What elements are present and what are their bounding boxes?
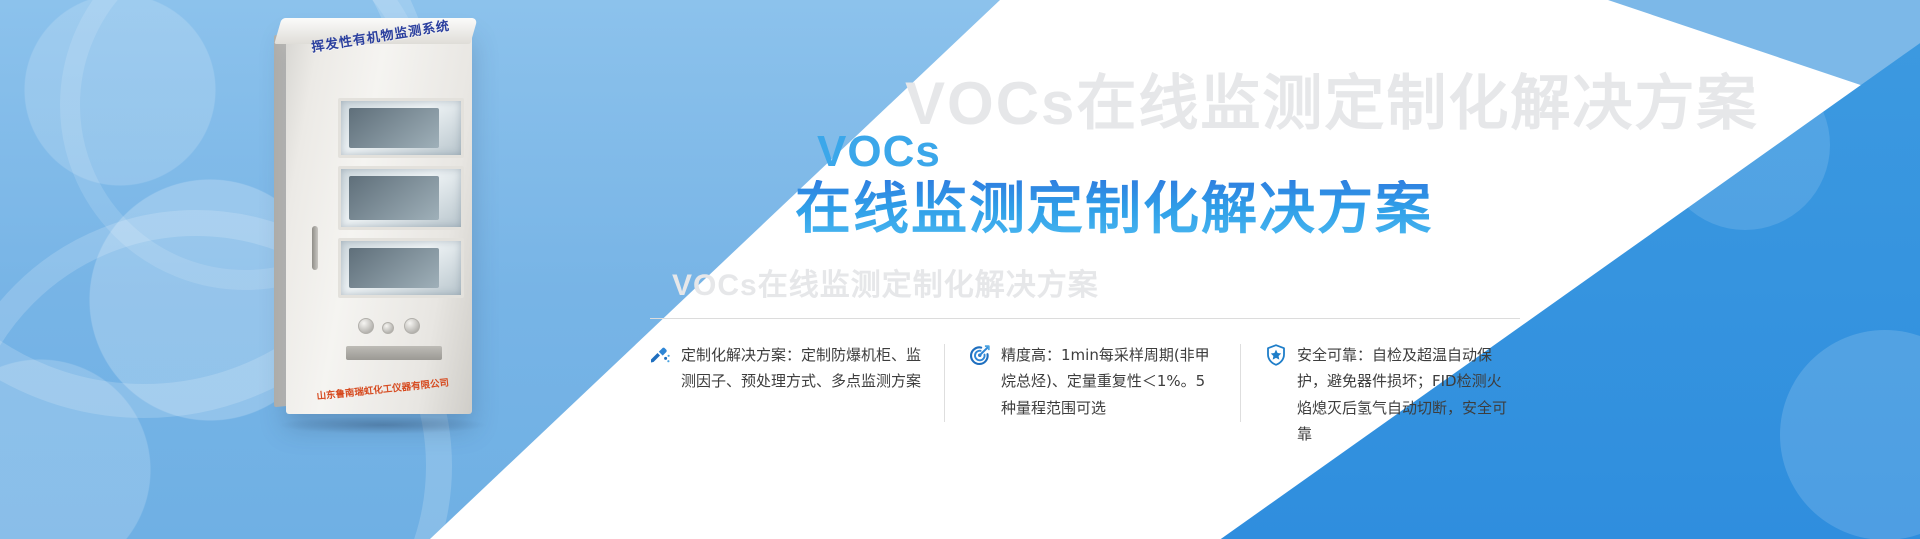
headline-divider	[650, 318, 1520, 319]
cabinet-window-top	[338, 98, 464, 158]
cabinet-screen-middle	[349, 176, 439, 220]
feature-text: 安全可靠：自检及超温自动保护，避免器件损坏；FID检测火焰熄灭后氢气自动切断，安…	[1297, 342, 1516, 447]
shield-star-icon	[1264, 343, 1288, 367]
feature-item-high-precision: 精度高：1min每采样周期(非甲烷总烃)、定量重复性＜1%。5种量程范围可选	[944, 342, 1240, 447]
cabinet-screen-top	[349, 108, 439, 148]
feature-text: 定制化解决方案：定制防爆机柜、监测因子、预处理方式、多点监测方案	[681, 342, 924, 447]
pencil-ruler-icon	[648, 343, 672, 367]
headline-english: VOCs	[817, 130, 1515, 174]
cabinet-company-label: 山东鲁南瑞虹化工仪器有限公司	[316, 368, 516, 403]
cabinet-body: 山东鲁南瑞虹化工仪器有限公司	[286, 26, 472, 414]
feature-item-safety: 安全可靠：自检及超温自动保护，避免器件损坏；FID检测火焰熄灭后氢气自动切断，安…	[1240, 342, 1536, 447]
watermark-heading-top: VOCs在线监测定制化解决方案	[905, 55, 1758, 142]
headline-chinese: 在线监测定制化解决方案	[795, 180, 1515, 239]
cabinet-knob-3	[404, 318, 420, 334]
feature-item-custom-solution: 定制化解决方案：定制防爆机柜、监测因子、预处理方式、多点监测方案	[648, 342, 944, 447]
cabinet-knob-2	[382, 322, 394, 334]
banner-root: 山东鲁南瑞虹化工仪器有限公司 挥发性有机物监测系统 VOCs在线监测定制化解决方…	[0, 0, 1920, 539]
watermark-heading-bottom: VOCs在线监测定制化解决方案	[672, 260, 1099, 304]
cabinet-panel-strip	[346, 346, 442, 360]
product-image: 山东鲁南瑞虹化工仪器有限公司 挥发性有机物监测系统	[268, 8, 500, 428]
feature-text: 精度高：1min每采样周期(非甲烷总烃)、定量重复性＜1%。5种量程范围可选	[1001, 342, 1220, 447]
feature-list: 定制化解决方案：定制防爆机柜、监测因子、预处理方式、多点监测方案 精度高：1mi…	[648, 342, 1538, 447]
cabinet-window-middle	[338, 166, 464, 230]
target-arrow-icon	[968, 343, 992, 367]
cabinet-door-handle	[312, 226, 318, 270]
product-shadow	[278, 416, 488, 434]
cabinet-knob-1	[358, 318, 374, 334]
cabinet-window-bottom	[338, 238, 464, 298]
headline-group: VOCs 在线监测定制化解决方案	[795, 130, 1515, 239]
cabinet-screen-bottom	[349, 248, 439, 288]
